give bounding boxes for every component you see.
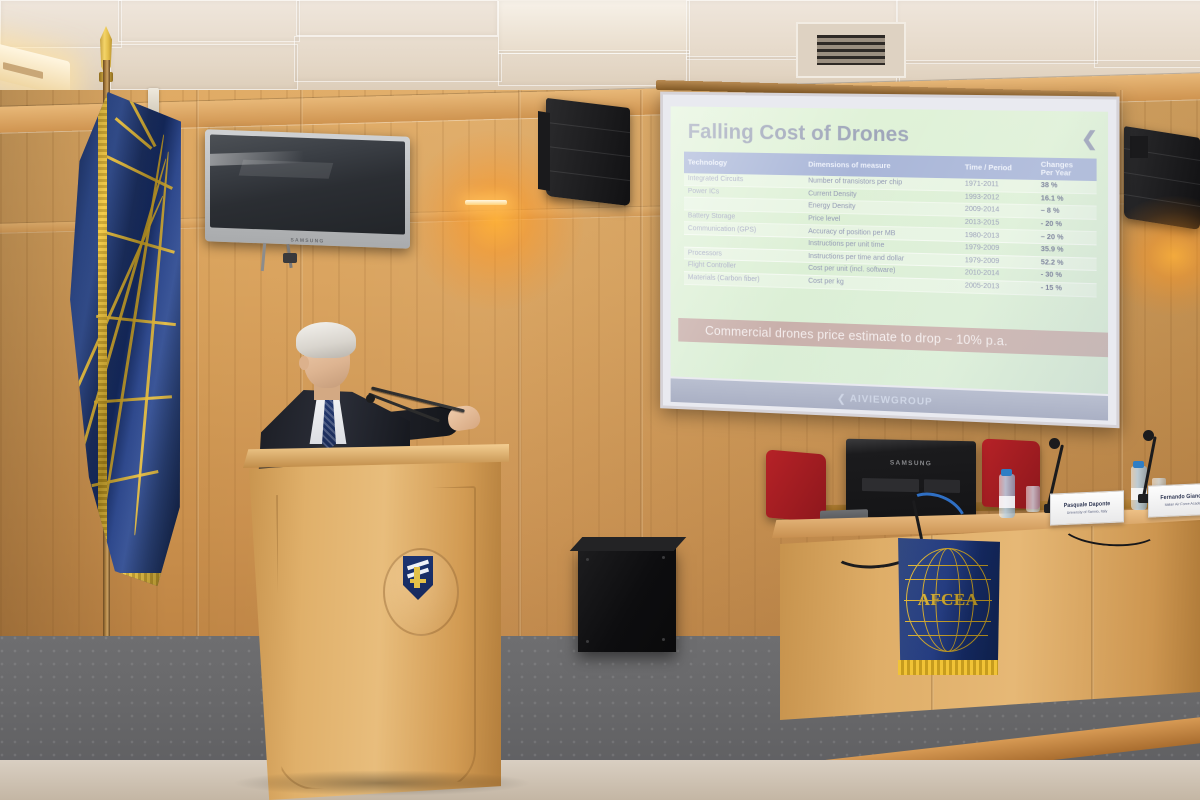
col-header-technology: Technology <box>684 152 804 176</box>
tv-brand-label: SAMSUNG <box>291 237 325 244</box>
bottle-cap-2 <box>1133 461 1144 468</box>
afcea-banner-fringe <box>898 660 998 675</box>
slide-data-table: Technology Dimensions of measure Time / … <box>684 152 1097 297</box>
line-array-speaker-left <box>546 98 630 206</box>
podium-microphone-head <box>366 394 375 403</box>
podium-shadow <box>232 770 532 796</box>
monitor-brand-label: SAMSUNG <box>890 460 932 468</box>
wall-sconce-light <box>465 200 507 205</box>
presenter-ear <box>299 356 309 370</box>
wall-mounted-tv: SAMSUNG <box>205 129 410 249</box>
col-header-period: Time / Period <box>961 156 1037 180</box>
conference-hall-photo: SAMSUNG Falling Cost of Drones ❮ Technol… <box>0 0 1200 800</box>
tv-screen <box>210 134 405 234</box>
bottle-cap-1 <box>1001 469 1012 476</box>
projection-screen: Falling Cost of Drones ❮ Technology Dime… <box>660 92 1119 429</box>
speaker-mount-bracket-right <box>1130 136 1148 158</box>
gooseneck-mic-head-1 <box>1049 438 1060 449</box>
speaker-mount-bracket-left <box>538 111 550 191</box>
lower-floor <box>0 760 1200 800</box>
red-conference-chair-left[interactable] <box>766 449 826 522</box>
slide-title: Falling Cost of Drones <box>688 120 909 147</box>
col-header-dimensions: Dimensions of measure <box>804 154 961 179</box>
col-header-changes: Changes Per Year <box>1037 158 1097 181</box>
gooseneck-mic-head-2 <box>1143 430 1154 441</box>
subwoofer-cabinet <box>578 548 676 652</box>
ceiling-air-vent <box>796 22 906 78</box>
water-glass-1[interactable] <box>1026 486 1040 512</box>
aiviewgroup-logo-text: AIVIEWGROUP <box>850 393 933 407</box>
wall-outlet-box <box>283 253 297 263</box>
nameplate-2-subtitle: Italian Air Force Academy <box>1165 501 1200 507</box>
podium-front-panel <box>276 486 476 790</box>
aiviewgroup-logo-icon: ❮ <box>837 392 846 405</box>
presenter-hair <box>296 322 356 358</box>
bottle-label-1 <box>999 496 1015 508</box>
nameplate-2: Fernando Giancotti Italian Air Force Aca… <box>1148 482 1200 517</box>
chevron-left-icon: ❮ <box>1081 128 1098 152</box>
afcea-desk-banner: AFCEA <box>896 538 1000 666</box>
projected-slide: Falling Cost of Drones ❮ Technology Dime… <box>671 106 1108 394</box>
slide-callout-banner: Commercial drones price estimate to drop… <box>678 318 1108 357</box>
slide-callout-text: Commercial drones price estimate to drop… <box>678 323 1008 349</box>
